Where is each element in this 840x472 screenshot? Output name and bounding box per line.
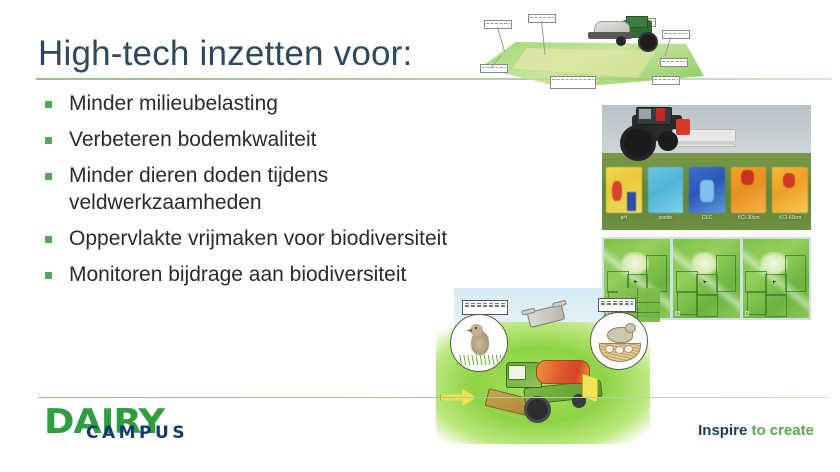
bullet-square-icon bbox=[45, 101, 52, 108]
mower-wheel-icon bbox=[524, 396, 551, 423]
tagline-bold-text: Inspire bbox=[698, 422, 747, 439]
bullet-text: Oppervlakte vrijmaken voor biodiversitei… bbox=[69, 225, 447, 252]
panel-label: KCl-30cm bbox=[731, 215, 767, 221]
egg-icon bbox=[605, 345, 614, 353]
bullet-list: Minder milieubelasting Verbeteren bodemk… bbox=[38, 90, 458, 297]
bullet-square-icon bbox=[45, 272, 52, 279]
panel-label: pH bbox=[606, 215, 642, 221]
tagline-rest-text: to create bbox=[747, 422, 814, 439]
bullet-text: Monitoren bijdrage aan biodiversiteit bbox=[69, 261, 406, 288]
callout-box bbox=[660, 58, 688, 67]
list-item: Minder dieren doden tijdens veldwerkzaam… bbox=[38, 162, 458, 216]
egg-icon bbox=[615, 346, 624, 354]
callout-box bbox=[598, 298, 636, 312]
callout-box bbox=[528, 14, 556, 23]
sensor-panel bbox=[772, 167, 808, 213]
bullet-text: Minder dieren doden tijdens veldwerkzaam… bbox=[69, 162, 458, 216]
sensor-panel-photo: pH sonde CEC KCl-30cm KCl-60cm bbox=[602, 105, 811, 230]
panel-label: sonde bbox=[648, 215, 684, 221]
sensor-panel bbox=[648, 167, 684, 213]
sensor-panel-row bbox=[606, 167, 808, 213]
bullet-square-icon bbox=[45, 137, 52, 144]
list-item: Monitoren bijdrage aan biodiversiteit bbox=[38, 261, 458, 288]
callout-box bbox=[550, 76, 596, 89]
bullet-square-icon bbox=[45, 173, 52, 180]
map-tag: 2 bbox=[675, 311, 679, 316]
sensor-panel-labels: pH sonde CEC KCl-30cm KCl-60cm bbox=[606, 215, 808, 221]
tractor-icon bbox=[586, 18, 672, 52]
logo-secondary-text: CAMPUS bbox=[86, 423, 188, 443]
callout-leader bbox=[497, 27, 505, 52]
panel-label: CEC bbox=[689, 215, 725, 221]
callout-box bbox=[480, 64, 508, 73]
egg-icon bbox=[624, 345, 633, 353]
sensor-panel bbox=[731, 167, 767, 213]
chick-beak-icon bbox=[466, 329, 472, 332]
footer-divider bbox=[38, 397, 828, 398]
callout-box bbox=[652, 76, 680, 85]
sensor-panel bbox=[606, 167, 642, 213]
chick-eye-icon bbox=[475, 327, 477, 329]
panel-label: KCl-60cm bbox=[772, 215, 808, 221]
tractor-slurry-diagram bbox=[476, 4, 708, 92]
map-tag: 3 bbox=[745, 311, 749, 316]
bullet-text: Verbeteren bodemkwaliteit bbox=[69, 126, 316, 153]
dairy-campus-logo: DAIRY CAMPUS bbox=[44, 402, 214, 448]
page-title: High-tech inzetten voor: bbox=[38, 34, 412, 74]
mower-tank-icon bbox=[536, 360, 590, 384]
bird-head-icon bbox=[625, 323, 636, 333]
slide-canvas: High-tech inzetten voor: Minder milieube… bbox=[0, 0, 840, 472]
sensor-panel bbox=[689, 167, 725, 213]
tractor-photo-icon bbox=[610, 107, 740, 165]
bullet-square-icon bbox=[45, 236, 52, 243]
field-map: 2 bbox=[673, 239, 739, 318]
title-divider bbox=[36, 78, 832, 80]
mower-window-icon bbox=[508, 365, 526, 380]
callout-box bbox=[462, 300, 508, 315]
list-item: Minder milieubelasting bbox=[38, 90, 458, 117]
mower-wildlife-sketch bbox=[432, 288, 658, 450]
bullet-text: Minder milieubelasting bbox=[69, 90, 278, 117]
list-item: Oppervlakte vrijmaken voor biodiversitei… bbox=[38, 225, 458, 252]
field-map: 3 bbox=[743, 239, 809, 318]
tagline: Inspire to create bbox=[698, 422, 814, 439]
list-item: Verbeteren bodemkwaliteit bbox=[38, 126, 458, 153]
